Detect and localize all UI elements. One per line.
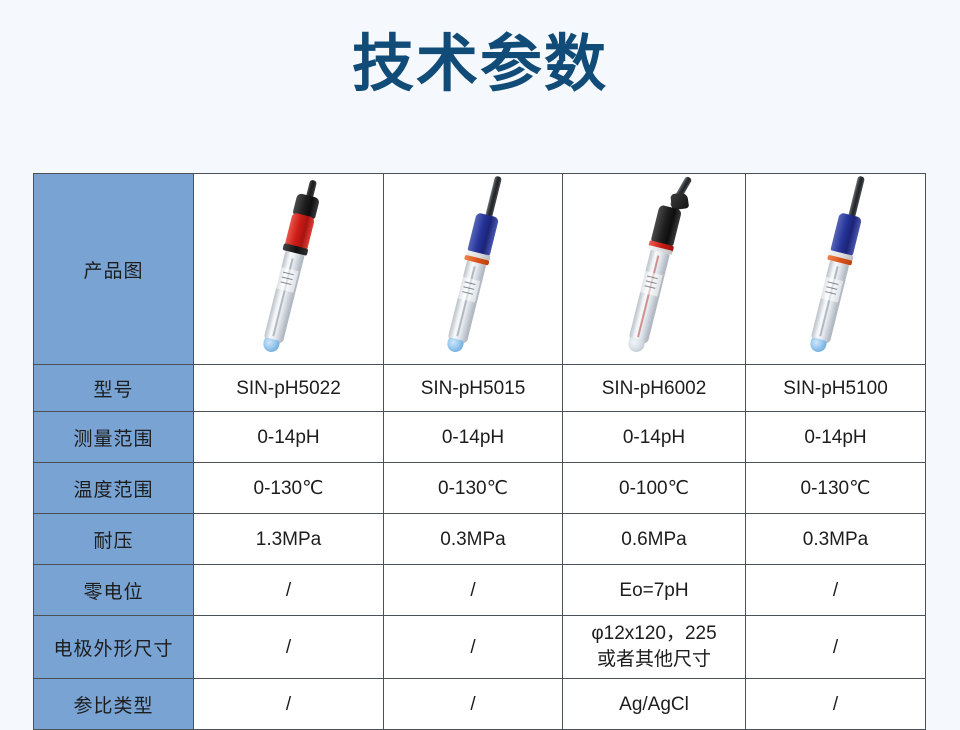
measuring-range-value-2: 0-14pH [384,412,563,463]
electrode-dimensions-value-4: / [746,616,926,679]
reference-type-value-4: / [746,679,926,730]
product-image-cell-3 [563,174,746,365]
row-label-temperature-range: 温度范围 [34,463,194,514]
ph-electrode-red-cap-icon [246,180,330,358]
row-label-model: 型号 [34,365,194,412]
measuring-range-value-1: 0-14pH [194,412,384,463]
reference-type-value-2: / [384,679,563,730]
pressure-resistance-value-4: 0.3MPa [746,514,926,565]
pressure-resistance-value-3: 0.6MPa [563,514,746,565]
electrode-dimensions-value-3: φ12x120，225 或者其他尺寸 [563,616,746,679]
zero-potential-value-1: / [194,565,384,616]
temperature-range-value-3: 0-100℃ [563,463,746,514]
spec-table-container: 产品图 [33,173,925,730]
product-image-cell-2 [384,174,563,365]
model-value-4: SIN-pH5100 [746,365,926,412]
row-label-measuring-range: 测量范围 [34,412,194,463]
table-row-temperature-range: 温度范围 0-130℃ 0-130℃ 0-100℃ 0-130℃ [34,463,926,514]
spec-sheet-page: 技术参数 产品图 [0,0,960,727]
pressure-resistance-value-1: 1.3MPa [194,514,384,565]
row-label-reference-type: 参比类型 [34,679,194,730]
ph-electrode-black-angled-cap-icon [612,180,696,358]
temperature-range-value-4: 0-130℃ [746,463,926,514]
row-label-electrode-dimensions: 电极外形尺寸 [34,616,194,679]
product-image-cell-4 [746,174,926,365]
table-row-zero-potential: 零电位 / / Eo=7pH / [34,565,926,616]
measuring-range-value-3: 0-14pH [563,412,746,463]
temperature-range-value-1: 0-130℃ [194,463,384,514]
pressure-resistance-value-2: 0.3MPa [384,514,563,565]
model-value-1: SIN-pH5022 [194,365,384,412]
model-value-3: SIN-pH6002 [563,365,746,412]
row-label-pressure-resistance: 耐压 [34,514,194,565]
row-label-product-image: 产品图 [34,174,194,365]
table-row-reference-type: 参比类型 / / Ag/AgCl / [34,679,926,730]
reference-type-value-1: / [194,679,384,730]
page-title: 技术参数 [0,26,960,104]
row-label-zero-potential: 零电位 [34,565,194,616]
electrode-dimensions-value-1: / [194,616,384,679]
table-row-measuring-range: 测量范围 0-14pH 0-14pH 0-14pH 0-14pH [34,412,926,463]
reference-type-value-3: Ag/AgCl [563,679,746,730]
table-row-model: 型号 SIN-pH5022 SIN-pH5015 SIN-pH6002 SIN-… [34,365,926,412]
zero-potential-value-3: Eo=7pH [563,565,746,616]
zero-potential-value-2: / [384,565,563,616]
product-image-cell-1 [194,174,384,365]
ph-electrode-blue-cap-2-icon [793,180,877,358]
table-row-product-image: 产品图 [34,174,926,365]
technical-parameters-table: 产品图 [33,173,926,730]
electrode-dimensions-line2: 或者其他尺寸 [567,647,741,673]
table-row-electrode-dimensions: 电极外形尺寸 / / φ12x120，225 或者其他尺寸 / [34,616,926,679]
electrode-dimensions-line1: φ12x120，225 [567,621,741,647]
temperature-range-value-2: 0-130℃ [384,463,563,514]
zero-potential-value-4: / [746,565,926,616]
table-row-pressure-resistance: 耐压 1.3MPa 0.3MPa 0.6MPa 0.3MPa [34,514,926,565]
model-value-2: SIN-pH5015 [384,365,563,412]
electrode-dimensions-value-2: / [384,616,563,679]
ph-electrode-blue-cap-icon [431,180,515,358]
measuring-range-value-4: 0-14pH [746,412,926,463]
